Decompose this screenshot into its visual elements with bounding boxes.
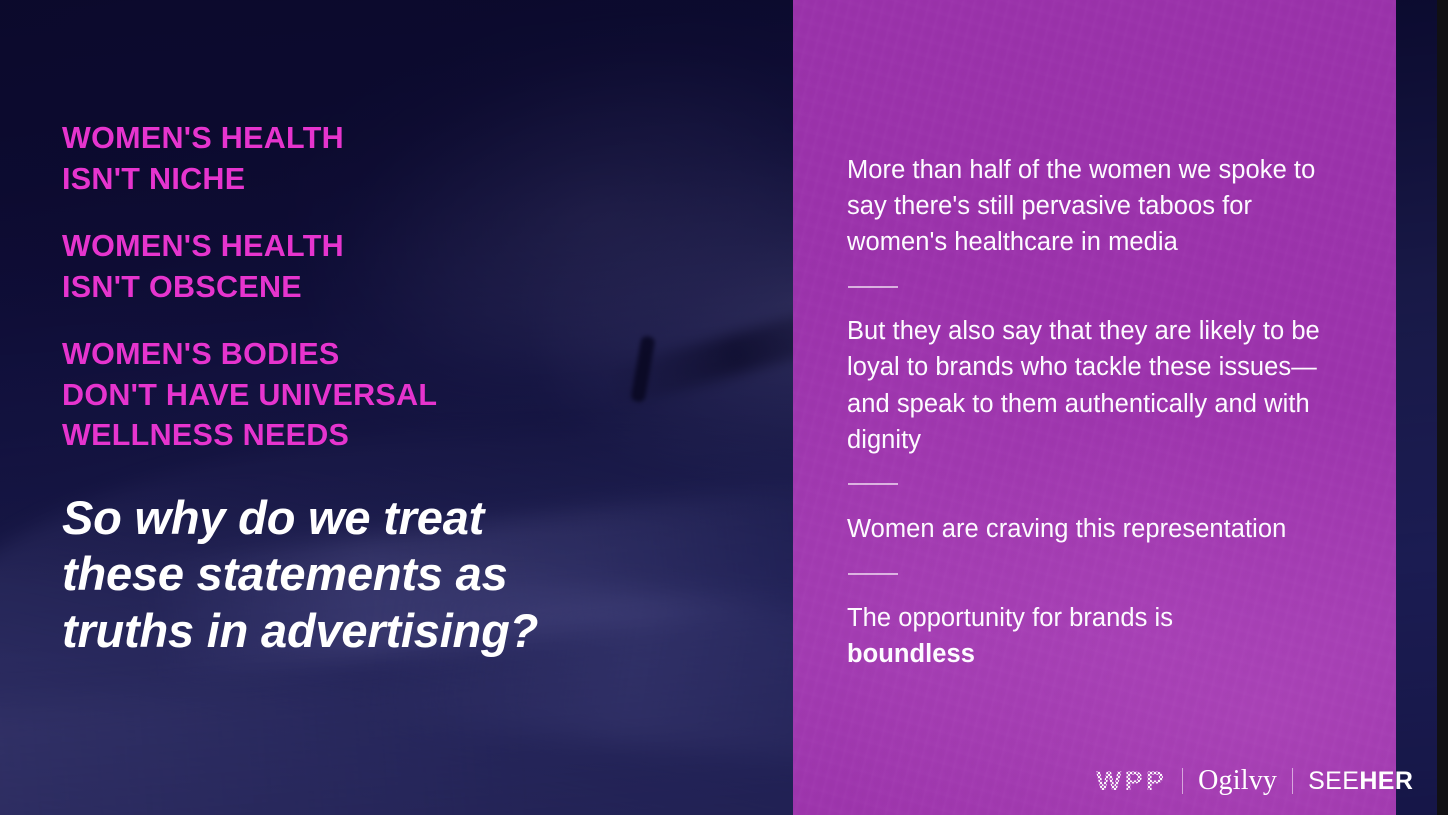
insight-paragraph-3: Women are craving this representation (847, 511, 1357, 547)
right-content-column: More than half of the women we spoke to … (847, 126, 1357, 698)
statement-line: ISN'T NICHE (62, 159, 762, 200)
headline-question: So why do we treat these statements as t… (62, 490, 762, 659)
logo-separator (1292, 768, 1293, 794)
insight-paragraph-4-emphasis: boundless (847, 640, 975, 668)
statement-block-1: WOMEN'S HEALTH ISN'T NICHE (62, 118, 762, 199)
statement-line: WOMEN'S BODIES (62, 334, 762, 375)
statement-line: WELLNESS NEEDS (62, 415, 762, 456)
insight-paragraph-2: But they also say that they are likely t… (847, 313, 1357, 458)
logo-separator (1182, 768, 1183, 794)
left-content-column: WOMEN'S HEALTH ISN'T NICHE WOMEN'S HEALT… (62, 118, 762, 659)
statement-line: WOMEN'S HEALTH (62, 118, 762, 159)
insight-paragraph-4: The opportunity for brands isboundless (847, 600, 1357, 672)
statement-line: ISN'T OBSCENE (62, 267, 762, 308)
slide: WOMEN'S HEALTH ISN'T NICHE WOMEN'S HEALT… (0, 0, 1448, 815)
logo-row: WPP Ogilvy SEEHER (1096, 763, 1413, 799)
divider-rule-2 (848, 483, 898, 485)
seeher-logo: SEEHER (1308, 769, 1413, 794)
insight-paragraph-1: More than half of the women we spoke to … (847, 152, 1357, 261)
divider-rule-1 (848, 286, 898, 288)
seeher-logo-light: SEE (1308, 767, 1359, 795)
statement-line: WOMEN'S HEALTH (62, 226, 762, 267)
headline-question-line: So why do we treat (62, 490, 762, 546)
headline-question-line: truths in advertising? (62, 603, 762, 659)
divider-rule-3 (848, 573, 898, 575)
headline-question-line: these statements as (62, 546, 762, 602)
insight-paragraph-4-text: The opportunity for brands is (847, 604, 1173, 632)
wpp-logo: WPP (1096, 768, 1167, 795)
statement-block-3: WOMEN'S BODIES DON'T HAVE UNIVERSAL WELL… (62, 334, 762, 456)
statement-line: DON'T HAVE UNIVERSAL (62, 375, 762, 416)
ogilvy-logo: Ogilvy (1198, 767, 1277, 795)
statement-block-2: WOMEN'S HEALTH ISN'T OBSCENE (62, 226, 762, 307)
seeher-logo-bold: HER (1359, 767, 1413, 795)
right-black-edge (1437, 0, 1448, 815)
